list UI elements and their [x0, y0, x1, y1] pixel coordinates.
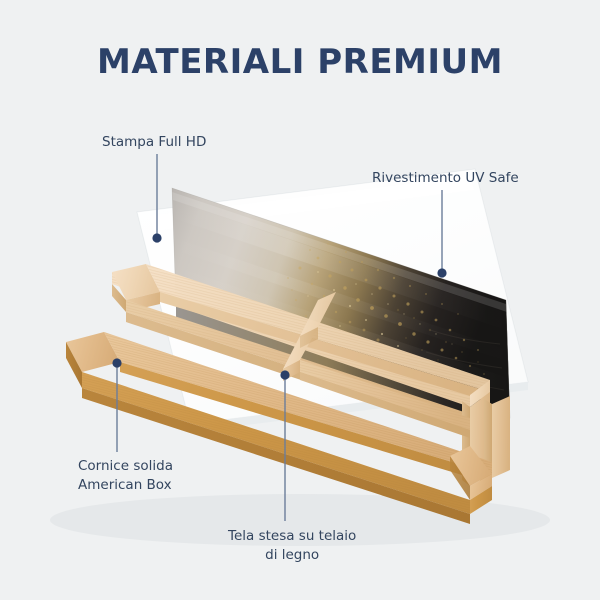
page-title: MATERIALI PREMIUM: [0, 42, 600, 82]
callout-dot-stampa[interactable]: [152, 233, 161, 242]
callout-dot-uv[interactable]: [437, 268, 446, 277]
callout-label-stampa-full-hd: Stampa Full HD: [102, 133, 206, 152]
callout-dot-tela[interactable]: [280, 370, 289, 379]
exploded-view-illustration: [0, 0, 600, 600]
callout-label-cornice-solida-american-box: Cornice solida American Box: [78, 457, 173, 494]
poster-canvas: MATERIALI PREMIUM Stampa Full HD Rivesti…: [0, 0, 600, 600]
callout-label-tela-stesa-su-telaio: Tela stesa su telaio di legno: [228, 527, 356, 564]
callout-label-rivestimento-uv-safe: Rivestimento UV Safe: [372, 169, 519, 188]
callout-dot-cornice[interactable]: [112, 358, 121, 367]
